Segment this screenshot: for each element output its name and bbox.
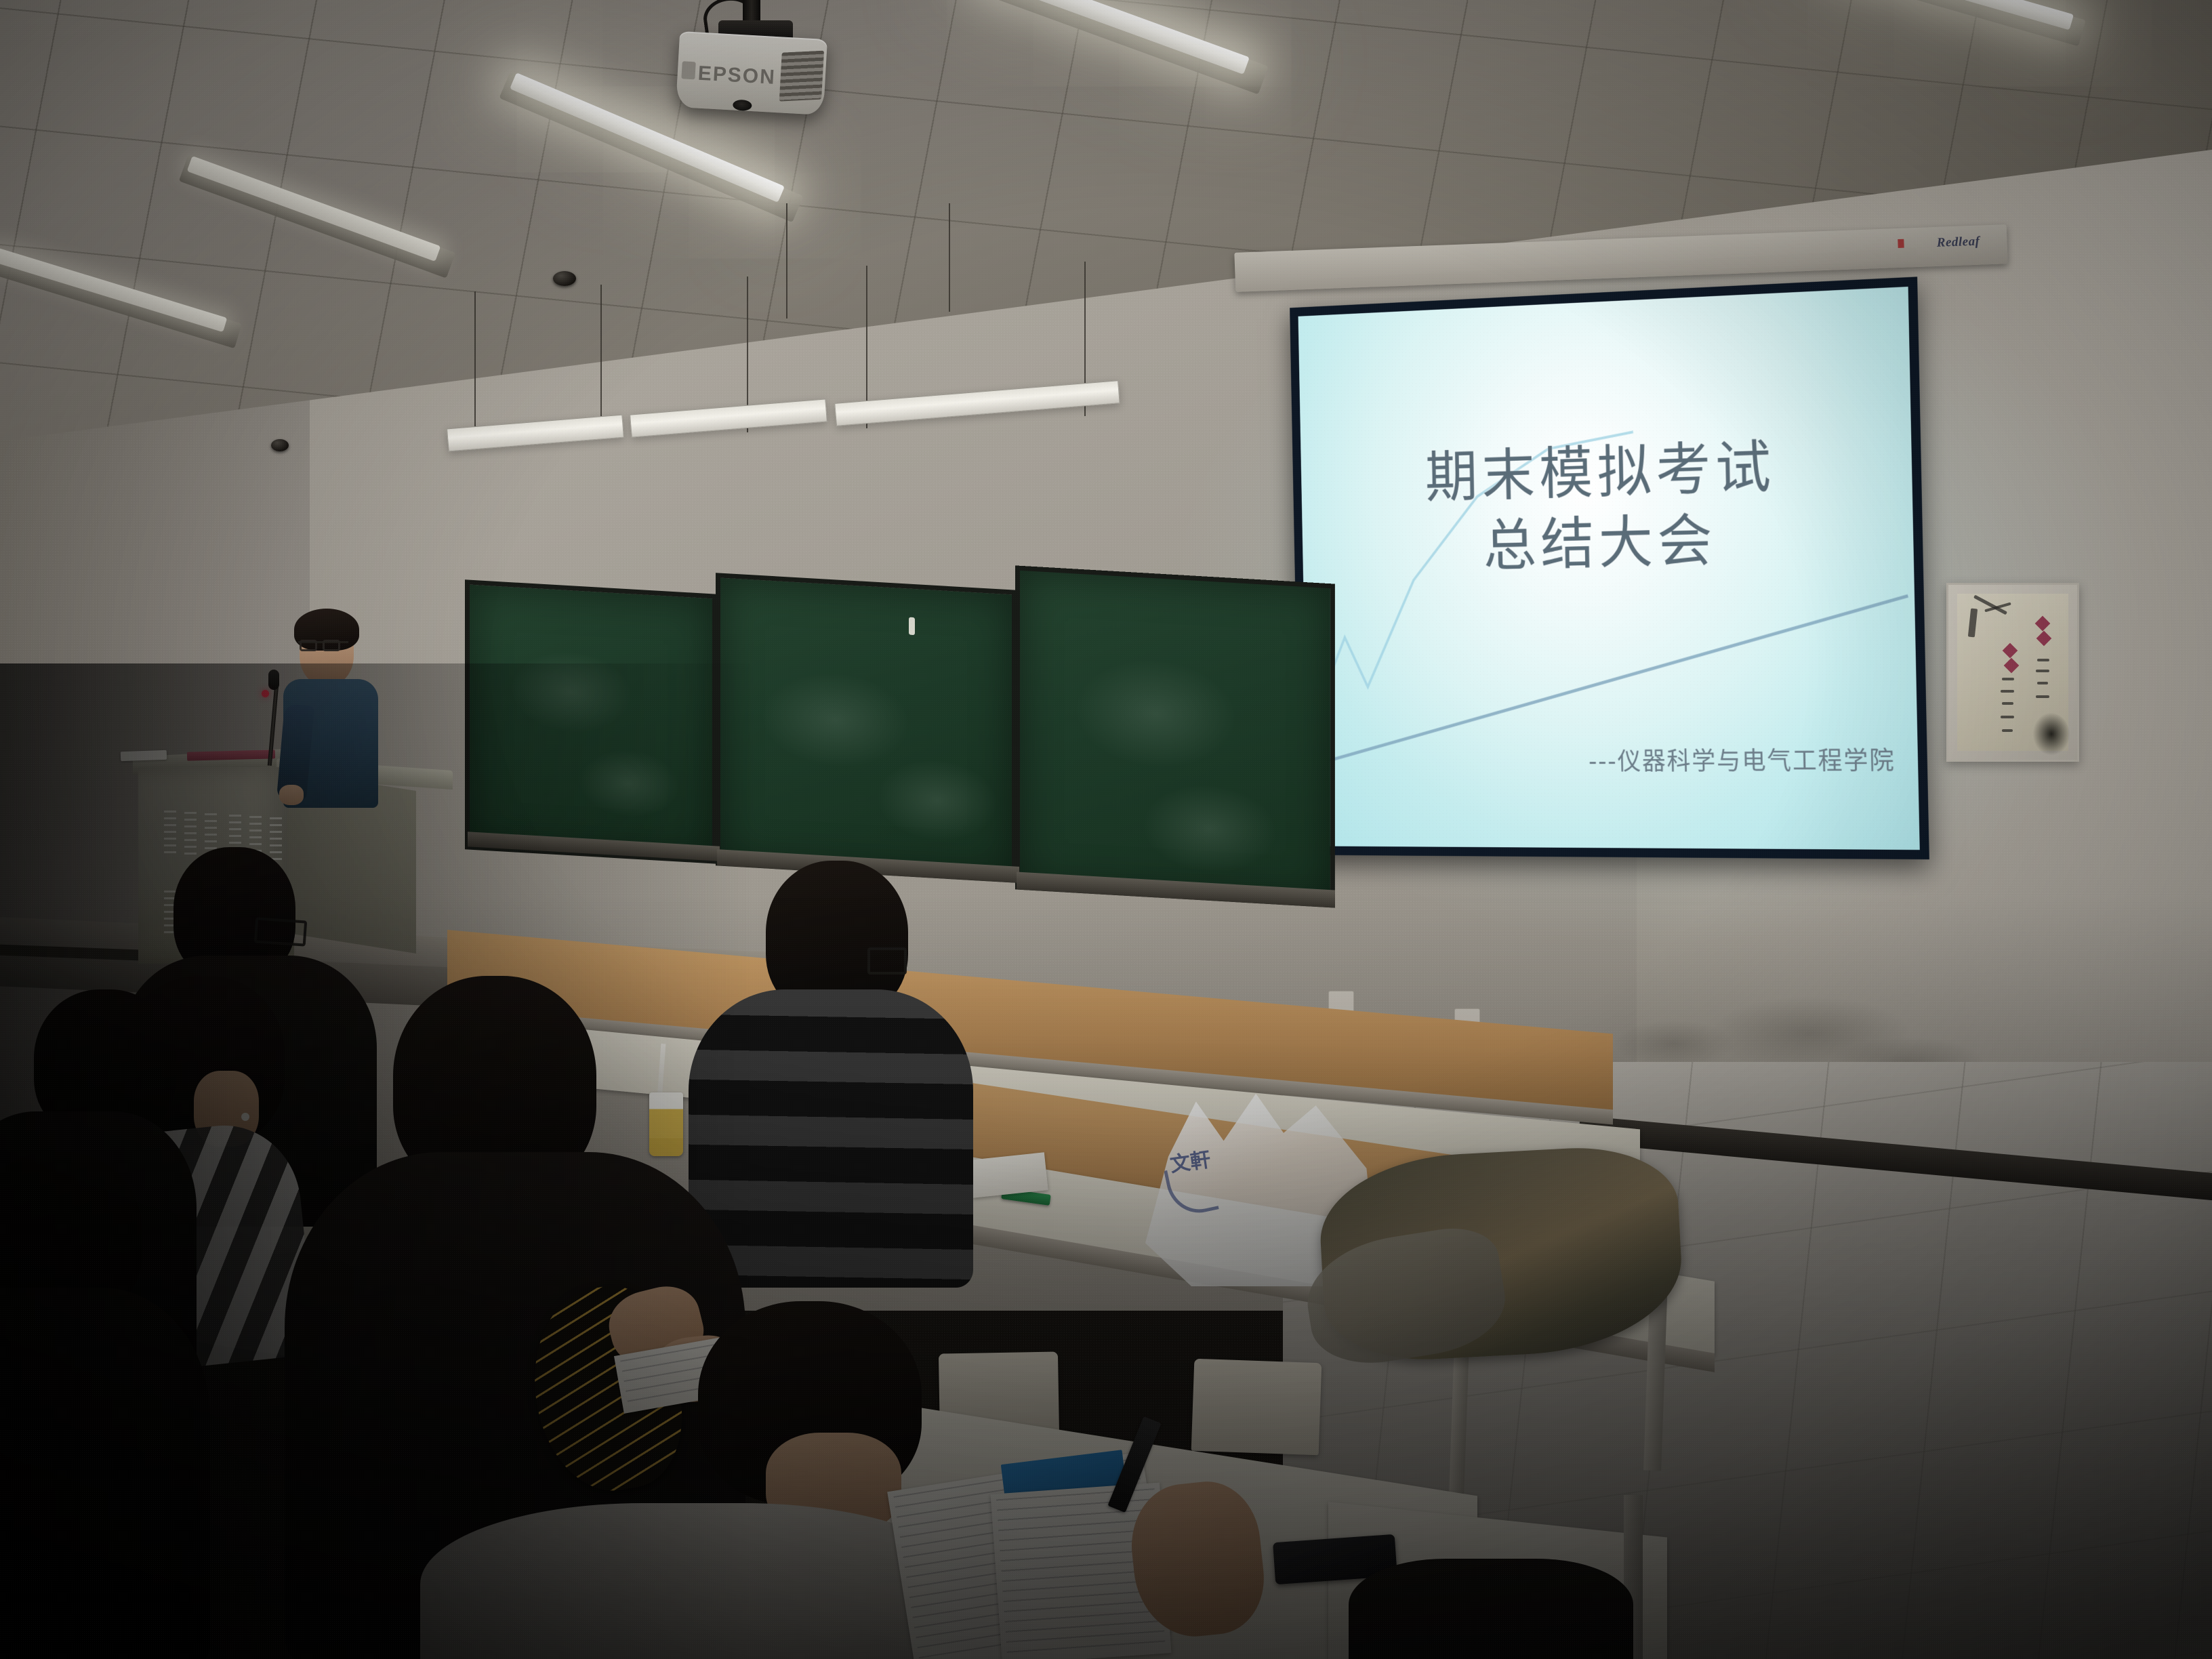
chalk-smudge [510,648,632,736]
calligraphy-stroke [2001,690,2014,693]
presenter-glasses-bridge [298,641,348,649]
projector-body: EPSON [676,31,827,115]
screen-brand-label: Redleaf [1936,234,1980,251]
wall-stain [1613,1020,1735,1067]
projector-status-led [681,61,695,79]
calligraphy-stroke [2001,716,2014,718]
desk-papers [968,1152,1048,1197]
calligraphy-stroke [2002,678,2014,680]
artwork-paper [1957,594,2068,751]
earbud-icon [241,1113,249,1121]
chalk-piece [909,617,915,636]
slide-title-line2: 总结大会 [1302,500,1914,586]
student-left-silhouette-2 [0,1152,197,1659]
student-bottom-right [1349,1559,1633,1659]
student-glasses [867,947,907,975]
smoke-detector-icon [553,271,576,286]
calligraphy-stroke [1968,609,1978,638]
artwork-seal [2003,643,2018,659]
presenter-hand [279,785,304,805]
slide-title: 期末模拟考试 总结大会 [1300,428,1914,586]
screen-brand-mark [1898,239,1904,248]
projector: EPSON [678,0,834,117]
light-suspension-wire [786,203,787,319]
calligraphy-stroke [2036,670,2049,672]
artwork-seal [2035,616,2051,632]
slide-title-line1: 期末模拟考试 [1425,434,1776,511]
ink-wash-blot [2033,713,2070,755]
projected-slide: 期末模拟考试 总结大会 ---仪器科学与电气工程学院 [1298,287,1920,850]
slide-subtitle: ---仪器科学与电气工程学院 [1588,740,1896,777]
student-torso [0,1288,210,1659]
framed-artwork [1946,583,2079,762]
projector-brand-label: EPSON [697,62,777,89]
chalkboard-panel-1 [465,579,717,863]
chalk-smudge [1142,781,1277,877]
chalkboard-panel-2 [716,573,1017,883]
calligraphy-stroke [2037,659,2049,661]
microphone-led-indicator [262,690,269,697]
calligraphy-stroke [2036,695,2049,698]
light-suspension-wire [949,203,950,312]
jacket-fold [1299,1221,1513,1372]
chalk-smudge [761,668,910,772]
calligraphy-stroke [2002,702,2013,705]
calligraphy-stroke [2037,682,2048,684]
projection-screen[interactable]: 期末模拟考试 总结大会 ---仪器科学与电气工程学院 [1290,276,1929,859]
projector-lens [733,100,752,112]
student-torso [1349,1559,1633,1659]
artwork-seal [2036,631,2052,647]
chalkboard-panel-3 [1015,565,1335,907]
presenter-person [283,603,385,820]
classroom-scene: EPSON Redleaf 期末模拟考试 总结大会 ---仪器科学与电气工程学 [0,0,2212,1659]
chalk-smudge [876,756,998,844]
light-suspension-wire [600,285,602,430]
light-suspension-wire [474,291,476,430]
calligraphy-stroke [2002,729,2013,732]
student-white-shirt-writing [447,1362,962,1659]
podium-papers [121,750,167,761]
chair-seatback [1191,1359,1322,1455]
projector-vent [779,51,824,102]
bag-logo-text: 文軒 [1168,1143,1212,1178]
artwork-seal [2004,658,2020,674]
chalk-smudge [578,747,680,821]
chalk-smudge [1074,655,1237,773]
microphone-head [268,670,279,690]
student-glasses [254,917,307,946]
smoke-detector-icon [271,439,289,451]
